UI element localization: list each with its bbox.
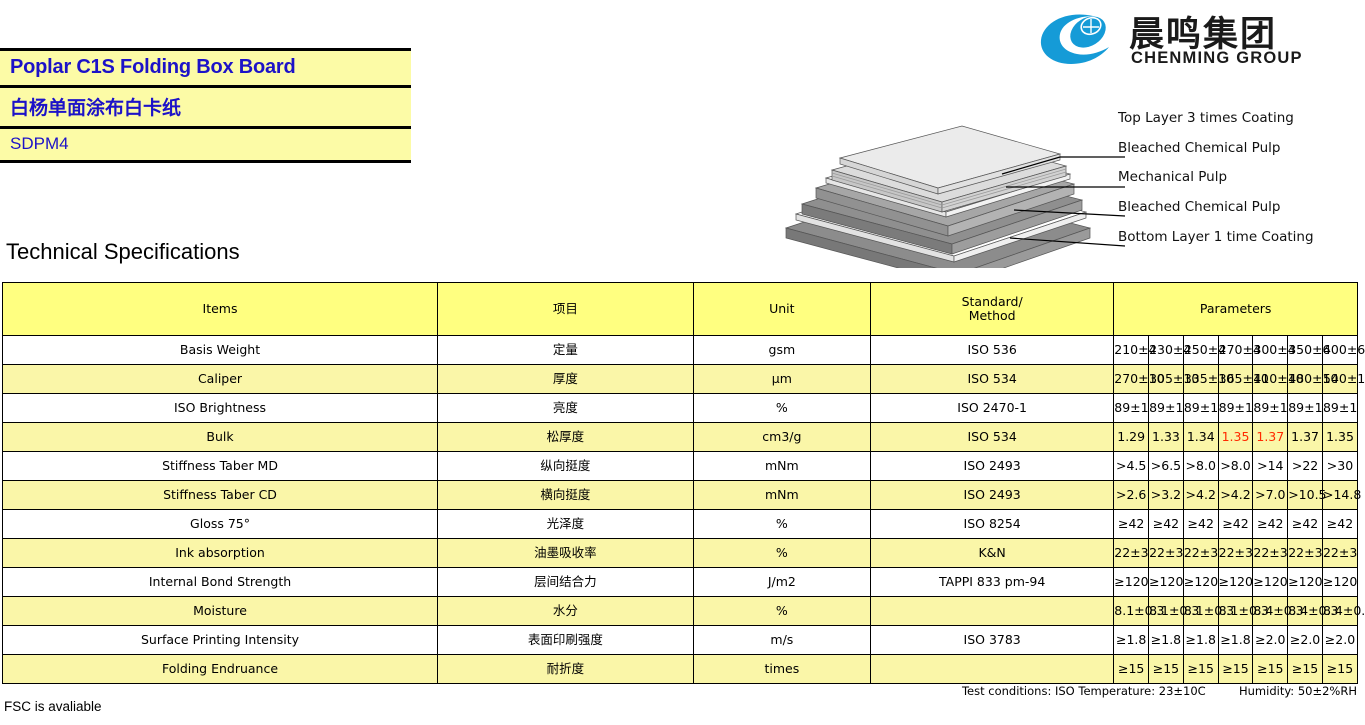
cell-item: Bulk <box>3 423 438 452</box>
cell-parameter-value: ≥42 <box>1322 510 1357 539</box>
cell-item-chinese: 耐折度 <box>438 655 694 684</box>
cell-parameter-value: ≥120 <box>1114 568 1149 597</box>
cell-parameter-value: >6.5 <box>1149 452 1184 481</box>
product-title-block: Poplar C1S Folding Box Board 白杨单面涂布白卡纸 S… <box>0 48 411 163</box>
cell-unit: cm3/g <box>693 423 870 452</box>
cell-parameter-value: ≥1.8 <box>1183 626 1218 655</box>
cell-parameter-value: 1.34 <box>1183 423 1218 452</box>
cell-standard: ISO 2493 <box>871 481 1114 510</box>
product-title-english: Poplar C1S Folding Box Board <box>10 56 401 79</box>
layer-label-bottom-coating: Bottom Layer 1 time Coating <box>1118 229 1314 245</box>
cell-parameter-value: 350±6 <box>1288 336 1323 365</box>
cell-parameter-value: >22 <box>1288 452 1323 481</box>
cell-parameter-value: >7.0 <box>1253 481 1288 510</box>
cell-parameter-value: ≥1.8 <box>1218 626 1253 655</box>
cell-parameter-value: 250±4 <box>1183 336 1218 365</box>
cell-unit: J/m2 <box>693 568 870 597</box>
cell-parameter-value: 89±1 <box>1288 394 1323 423</box>
cell-parameter-value: ≥1.8 <box>1114 626 1149 655</box>
cell-parameter-value: >3.2 <box>1149 481 1184 510</box>
cell-parameter-value: 22±3 <box>1218 539 1253 568</box>
cell-parameter-value: 89±1 <box>1183 394 1218 423</box>
cell-parameter-value: 270±4 <box>1218 336 1253 365</box>
fsc-note: FSC is avaliable <box>4 699 102 714</box>
title-row-chinese: 白杨单面涂布白卡纸 <box>0 85 411 126</box>
cell-parameter-value: 210±4 <box>1114 336 1149 365</box>
cell-parameter-value: ≥42 <box>1218 510 1253 539</box>
cell-parameter-value: ≥2.0 <box>1288 626 1323 655</box>
cell-parameter-value: 89±1 <box>1253 394 1288 423</box>
cell-parameter-value: 270±10 <box>1114 365 1149 394</box>
cell-parameter-value: ≥120 <box>1218 568 1253 597</box>
test-conditions-text: Test conditions: ISO Temperature: 23±10C <box>962 684 1206 698</box>
table-row: Stiffness Taber MD纵向挺度mNmISO 2493>4.5>6.… <box>3 452 1358 481</box>
cell-item: Ink absorption <box>3 539 438 568</box>
cell-parameter-value: 1.33 <box>1149 423 1184 452</box>
cell-item-chinese: 油墨吸收率 <box>438 539 694 568</box>
cell-parameter-value: 22±3 <box>1149 539 1184 568</box>
title-row-code: SDPM4 <box>0 126 411 160</box>
cell-parameter-value: 1.37 <box>1253 423 1288 452</box>
cell-parameter-value: 22±3 <box>1114 539 1149 568</box>
cell-parameter-value: ≥120 <box>1322 568 1357 597</box>
table-body: Basis Weight定量gsmISO 536210±4230±4250±42… <box>3 336 1358 684</box>
table-row: Internal Bond Strength层间结合力J/m2TAPPI 833… <box>3 568 1358 597</box>
cell-parameter-value: >4.5 <box>1114 452 1149 481</box>
col-header-parameters: Parameters <box>1114 283 1358 336</box>
layer-label-bleached-pulp-top: Bleached Chemical Pulp <box>1118 140 1280 156</box>
cell-item: Surface Printing Intensity <box>3 626 438 655</box>
cell-parameter-value: ≥42 <box>1149 510 1184 539</box>
layer-label-mechanical-pulp: Mechanical Pulp <box>1118 169 1227 185</box>
cell-parameter-value: ≥120 <box>1288 568 1323 597</box>
cell-item: ISO Brightness <box>3 394 438 423</box>
product-code: SDPM4 <box>10 134 401 154</box>
cell-parameter-value: ≥15 <box>1218 655 1253 684</box>
cell-parameter-value: ≥42 <box>1253 510 1288 539</box>
cell-item-chinese: 光泽度 <box>438 510 694 539</box>
cell-parameter-value: >30 <box>1322 452 1357 481</box>
cell-parameter-value: 400±6 <box>1322 336 1357 365</box>
cell-item: Caliper <box>3 365 438 394</box>
cell-parameter-value: 8.1±0.3 <box>1149 597 1184 626</box>
cell-item: Stiffness Taber MD <box>3 452 438 481</box>
cell-parameter-value: ≥42 <box>1183 510 1218 539</box>
col-header-standard: Standard/ Method <box>871 283 1114 336</box>
page-title: Technical Specifications <box>6 239 240 265</box>
logo-text-english: CHENMING GROUP <box>1131 49 1303 68</box>
cell-item: Gloss 75° <box>3 510 438 539</box>
cell-parameter-value: >8.0 <box>1218 452 1253 481</box>
cell-parameter-value: ≥2.0 <box>1253 626 1288 655</box>
technical-specifications-table: Items 项目 Unit Standard/ Method Parameter… <box>2 282 1358 684</box>
layer-label-top-coating: Top Layer 3 times Coating <box>1118 110 1294 126</box>
table-row: Surface Printing Intensity表面印刷强度m/sISO 3… <box>3 626 1358 655</box>
cell-standard: K&N <box>871 539 1114 568</box>
cell-parameter-value: 89±1 <box>1218 394 1253 423</box>
cell-parameter-value: >10.5 <box>1288 481 1323 510</box>
table-header-row: Items 项目 Unit Standard/ Method Parameter… <box>3 283 1358 336</box>
cell-parameter-value: ≥120 <box>1149 568 1184 597</box>
table-row: Stiffness Taber CD横向挺度mNmISO 2493>2.6>3.… <box>3 481 1358 510</box>
cell-parameter-value: ≥15 <box>1149 655 1184 684</box>
cell-parameter-value: 365±10 <box>1218 365 1253 394</box>
cell-parameter-value: 540±10 <box>1322 365 1357 394</box>
col-header-items-cn: 项目 <box>438 283 694 336</box>
col-header-unit: Unit <box>693 283 870 336</box>
table-row: Basis Weight定量gsmISO 536210±4230±4250±42… <box>3 336 1358 365</box>
cell-parameter-value: ≥15 <box>1253 655 1288 684</box>
cell-standard: ISO 8254 <box>871 510 1114 539</box>
cell-parameter-value: ≥120 <box>1253 568 1288 597</box>
chenming-swoosh-icon <box>1033 8 1119 66</box>
table-row: Ink absorption油墨吸收率%K&N22±322±322±322±32… <box>3 539 1358 568</box>
cell-item: Moisture <box>3 597 438 626</box>
table-row: ISO Brightness亮度%ISO 2470-189±189±189±18… <box>3 394 1358 423</box>
cell-parameter-value: 8.4±0.3 <box>1288 597 1323 626</box>
cell-parameter-value: 22±3 <box>1253 539 1288 568</box>
cell-unit: m/s <box>693 626 870 655</box>
table-row: Gloss 75°光泽度%ISO 8254≥42≥42≥42≥42≥42≥42≥… <box>3 510 1358 539</box>
cell-item: Stiffness Taber CD <box>3 481 438 510</box>
cell-unit: μm <box>693 365 870 394</box>
cell-unit: % <box>693 539 870 568</box>
table-row: Moisture水分%8.1±0.38.1±0.38.1±0.38.1±0.38… <box>3 597 1358 626</box>
humidity-text: Humidity: 50±2%RH <box>1239 684 1357 698</box>
layer-label-bleached-pulp-bottom: Bleached Chemical Pulp <box>1118 199 1280 215</box>
cell-parameter-value: 335±10 <box>1183 365 1218 394</box>
cell-parameter-value: >4.2 <box>1218 481 1253 510</box>
test-conditions-note: Test conditions: ISO Temperature: 23±10C… <box>962 684 1357 698</box>
cell-parameter-value: ≥1.8 <box>1149 626 1184 655</box>
cell-parameter-value: ≥15 <box>1322 655 1357 684</box>
cell-parameter-value: ≥42 <box>1288 510 1323 539</box>
cell-parameter-value: >14.8 <box>1322 481 1357 510</box>
cell-unit: % <box>693 510 870 539</box>
cell-item: Folding Endruance <box>3 655 438 684</box>
cell-parameter-value: 230±4 <box>1149 336 1184 365</box>
cell-parameter-value: 480±10 <box>1288 365 1323 394</box>
cell-parameter-value: 8.1±0.3 <box>1218 597 1253 626</box>
cell-item: Internal Bond Strength <box>3 568 438 597</box>
cell-item-chinese: 亮度 <box>438 394 694 423</box>
cell-unit: times <box>693 655 870 684</box>
cell-item-chinese: 表面印刷强度 <box>438 626 694 655</box>
cell-item-chinese: 层间结合力 <box>438 568 694 597</box>
cell-standard: ISO 2493 <box>871 452 1114 481</box>
cell-parameter-value: 1.29 <box>1114 423 1149 452</box>
cell-parameter-value: 8.4±0.3 <box>1322 597 1357 626</box>
cell-unit: % <box>693 394 870 423</box>
cell-parameter-value: >4.2 <box>1183 481 1218 510</box>
cell-parameter-value: 8.1±0.3 <box>1183 597 1218 626</box>
cell-parameter-value: ≥15 <box>1288 655 1323 684</box>
cell-standard: ISO 3783 <box>871 626 1114 655</box>
cell-unit: % <box>693 597 870 626</box>
cell-parameter-value: 22±3 <box>1322 539 1357 568</box>
col-header-items: Items <box>3 283 438 336</box>
cell-item-chinese: 松厚度 <box>438 423 694 452</box>
cell-item-chinese: 定量 <box>438 336 694 365</box>
cell-parameter-value: 22±3 <box>1183 539 1218 568</box>
cell-standard: ISO 2470-1 <box>871 394 1114 423</box>
cell-parameter-value: 300±4 <box>1253 336 1288 365</box>
cell-parameter-value: 89±1 <box>1149 394 1184 423</box>
board-layer-diagram: Top Layer 3 times Coating Bleached Chemi… <box>770 88 1360 268</box>
cell-unit: mNm <box>693 452 870 481</box>
cell-parameter-value: ≥15 <box>1114 655 1149 684</box>
cell-item: Basis Weight <box>3 336 438 365</box>
product-title-chinese: 白杨单面涂布白卡纸 <box>10 93 401 120</box>
cell-parameter-value: >14 <box>1253 452 1288 481</box>
cell-parameter-value: >2.6 <box>1114 481 1149 510</box>
cell-unit: gsm <box>693 336 870 365</box>
cell-standard <box>871 597 1114 626</box>
table-row: Bulk松厚度cm3/gISO 5341.291.331.341.351.371… <box>3 423 1358 452</box>
cell-parameter-value: 8.4±0.3 <box>1253 597 1288 626</box>
title-row-english: Poplar C1S Folding Box Board <box>0 51 411 85</box>
cell-parameter-value: ≥42 <box>1114 510 1149 539</box>
cell-parameter-value: 8.1±0.3 <box>1114 597 1149 626</box>
cell-parameter-value: 89±1 <box>1114 394 1149 423</box>
col-header-standard-line2: Method <box>871 309 1113 323</box>
cell-item-chinese: 水分 <box>438 597 694 626</box>
table-header: Items 项目 Unit Standard/ Method Parameter… <box>3 283 1358 336</box>
cell-parameter-value: 305±10 <box>1149 365 1184 394</box>
cell-standard: TAPPI 833 pm-94 <box>871 568 1114 597</box>
col-header-standard-line1: Standard/ <box>871 295 1113 309</box>
cell-parameter-value: ≥15 <box>1183 655 1218 684</box>
cell-parameter-value: ≥2.0 <box>1322 626 1357 655</box>
cell-parameter-value: 1.37 <box>1288 423 1323 452</box>
cell-parameter-value: 89±1 <box>1322 394 1357 423</box>
cell-parameter-value: 1.35 <box>1218 423 1253 452</box>
company-logo: 晨鸣集团 CHENMING GROUP <box>1033 4 1343 70</box>
cell-standard: ISO 534 <box>871 365 1114 394</box>
cell-standard: ISO 534 <box>871 423 1114 452</box>
cell-parameter-value: 22±3 <box>1288 539 1323 568</box>
cell-parameter-value: 410±10 <box>1253 365 1288 394</box>
cell-item-chinese: 厚度 <box>438 365 694 394</box>
cell-parameter-value: 1.35 <box>1322 423 1357 452</box>
cell-parameter-value: ≥120 <box>1183 568 1218 597</box>
table-row: Folding Endruance耐折度times≥15≥15≥15≥15≥15… <box>3 655 1358 684</box>
cell-item-chinese: 横向挺度 <box>438 481 694 510</box>
cell-parameter-value: >8.0 <box>1183 452 1218 481</box>
cell-standard: ISO 536 <box>871 336 1114 365</box>
cell-unit: mNm <box>693 481 870 510</box>
table-row: Caliper厚度μmISO 534270±10305±10335±10365±… <box>3 365 1358 394</box>
cell-item-chinese: 纵向挺度 <box>438 452 694 481</box>
cell-standard <box>871 655 1114 684</box>
